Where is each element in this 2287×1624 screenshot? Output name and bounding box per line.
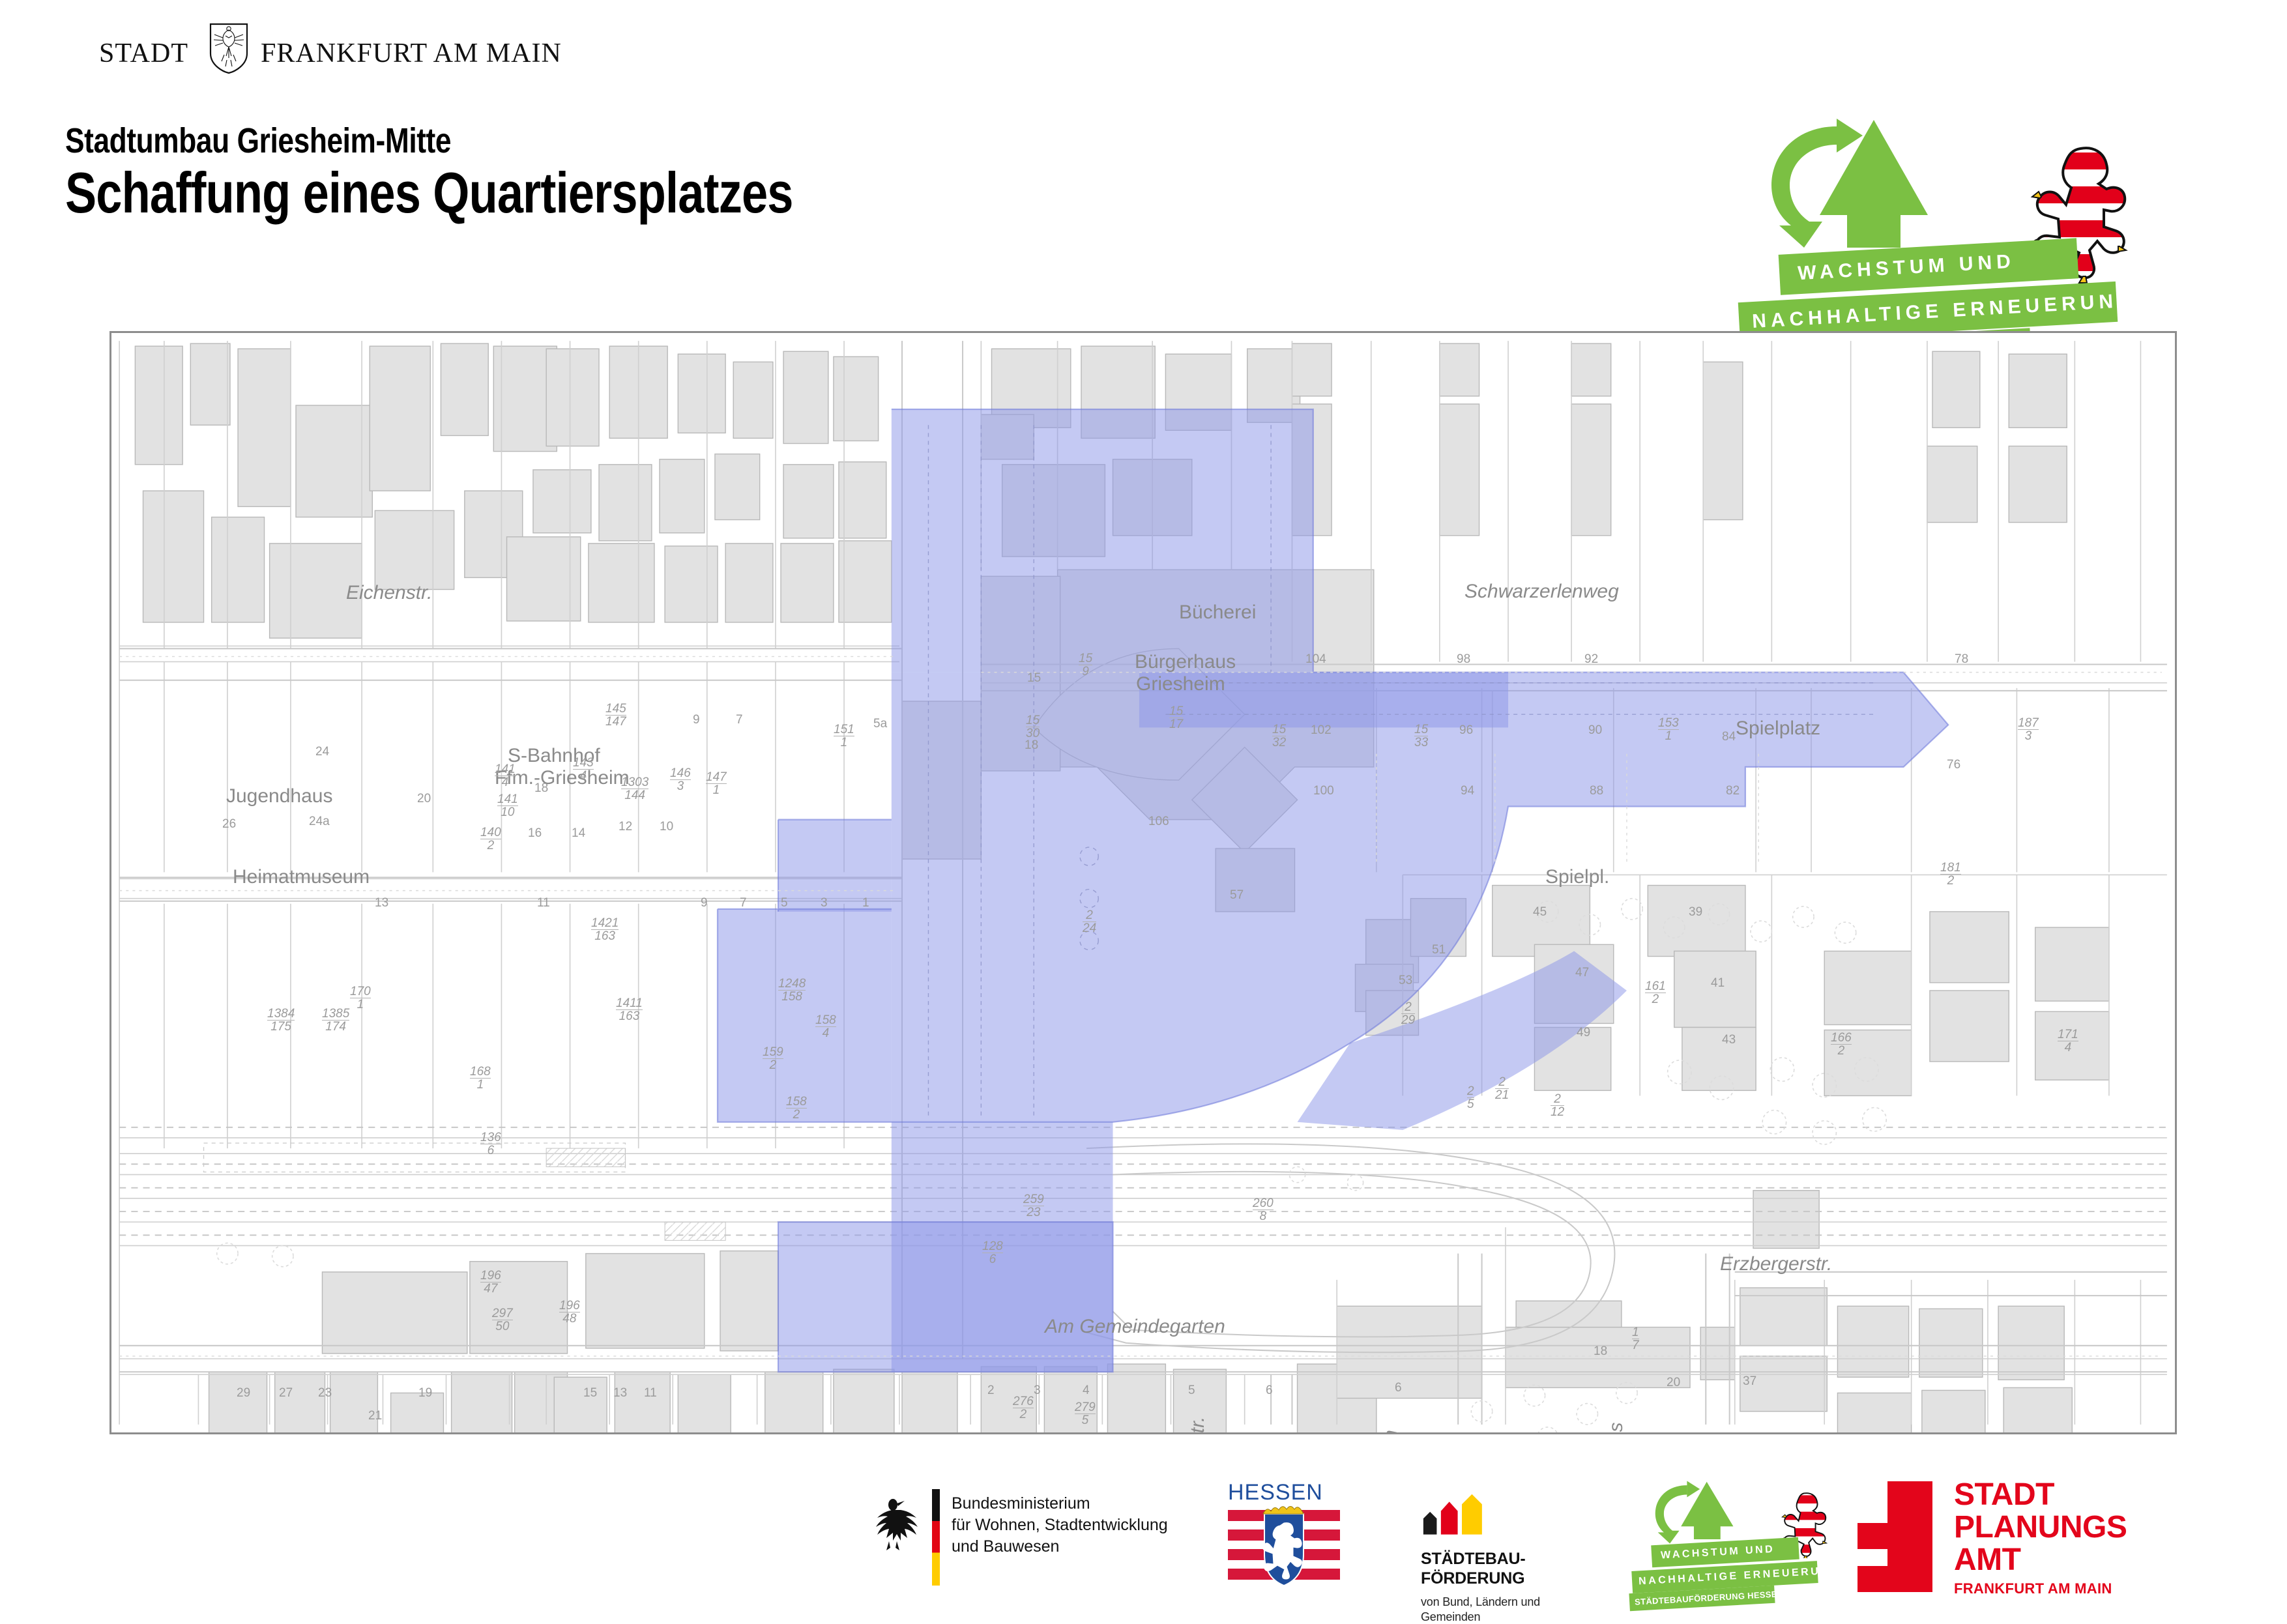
bmwsb-line-2: für Wohnen, Stadtentwicklung (952, 1515, 1168, 1536)
staedtebau-sub-2: Gemeinden (1421, 1610, 1480, 1623)
bundesadler-icon (867, 1493, 919, 1554)
page-subtitle: Stadtumbau Griesheim-Mitte (65, 121, 451, 161)
bmwsb-line-3: und Bauwesen (952, 1536, 1168, 1558)
spa-line-2: PLANUNGS (1954, 1511, 2127, 1544)
page-title: Schaffung eines Quartiersplatzes (65, 160, 793, 226)
bmwsb-logo: Bundesministerium für Wohnen, Stadtentwi… (867, 1484, 1206, 1588)
cadastral-map[interactable]: Eichenstr. Schwarzerlenweg Am Gemeindega… (109, 331, 2177, 1434)
stadtplanungsamt-text: STADT PLANUNGS AMT (1954, 1479, 2127, 1576)
frankfurt-eagle-crest-icon (209, 22, 249, 74)
staedtebau-line-2: FÖRDERUNG (1421, 1569, 1524, 1588)
stadtplanungsamt-mark-icon (1857, 1481, 1932, 1592)
map-canvas (111, 333, 2175, 1432)
city-logo-right-text: FRANKFURT AM MAIN (261, 38, 562, 69)
spa-subline: FRANKFURT AM MAIN (1954, 1580, 2112, 1597)
stadtplanungsamt-logo: STADT PLANUNGS AMT FRANKFURT AM MAIN (1857, 1481, 2196, 1605)
staedtebau-line-1: STÄDTEBAU- (1421, 1550, 1526, 1568)
german-flag-bar (932, 1489, 940, 1586)
svg-text:HESSEN: HESSEN (1228, 1480, 1323, 1505)
staedtebaufoerderung-logo: STÄDTEBAU- FÖRDERUNG von Bund, Ländern u… (1421, 1483, 1603, 1600)
spa-line-3: AMT (1954, 1544, 2127, 1576)
city-logo: STADT FRANKFURT AM MAIN (99, 34, 542, 74)
spa-line-1: STADT (1954, 1479, 2127, 1511)
program-logo-footer: WACHSTUM UND NACHHALTIGE ERNEUERUNG STÄD… (1623, 1479, 1871, 1606)
city-logo-left-text: STADT (99, 38, 188, 69)
staedtebau-text: STÄDTEBAU- FÖRDERUNG von Bund, Ländern u… (1421, 1549, 1540, 1624)
hessen-logo: HESSEN (1225, 1480, 1343, 1597)
footer-logos: Bundesministerium für Wohnen, Stadtentwi… (0, 1470, 2287, 1616)
bmwsb-line-1: Bundesministerium (952, 1493, 1168, 1515)
bmwsb-text: Bundesministerium für Wohnen, Stadtentwi… (952, 1493, 1168, 1558)
staedtebau-sub-1: von Bund, Ländern und (1421, 1595, 1540, 1608)
